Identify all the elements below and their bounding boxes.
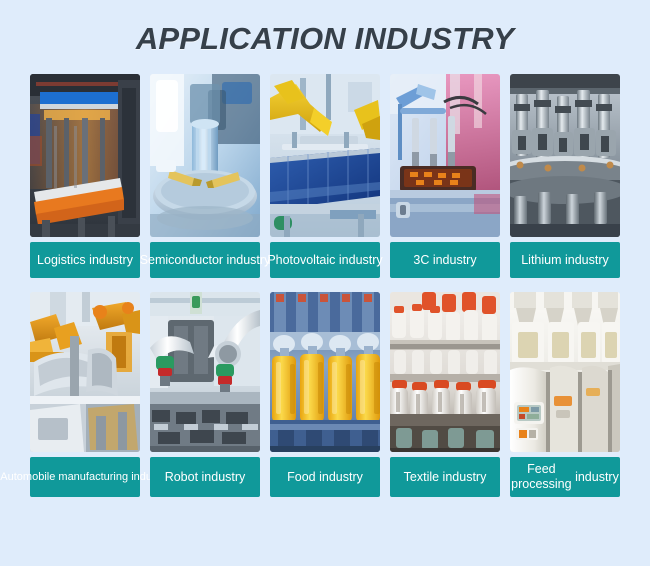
industry-card-logistics[interactable]: Logistics industry (30, 74, 140, 278)
semiconductor-wafer-photo (150, 74, 260, 237)
3c-assembly-photo (390, 74, 500, 237)
industry-row-2: Automobile manufacturing industry (30, 292, 620, 497)
label-line-1: Textile industry (404, 470, 487, 485)
industry-card-label: Lithium industry (510, 242, 620, 278)
industry-card-label: 3C industry (390, 242, 500, 278)
label-line-2: industry (89, 253, 133, 268)
label-line-1: Photovoltaic (267, 253, 335, 268)
industry-card-semiconductor[interactable]: Semiconductor industry (150, 74, 260, 278)
industry-card-label: Photovoltaic industry (270, 242, 380, 278)
industry-card-label: Logistics industry (30, 242, 140, 278)
label-line-2: manufacturing (58, 471, 128, 484)
application-industry-page: APPLICATION INDUSTRY (0, 0, 650, 566)
textile-spinning-photo (390, 292, 500, 452)
label-line-2: industry (227, 253, 271, 268)
logistics-conveyor-photo (30, 74, 140, 237)
page-title: APPLICATION INDUSTRY (0, 0, 650, 56)
industry-card-label: Textile industry (390, 457, 500, 497)
industry-card-label: Food industry (270, 457, 380, 497)
industry-card-label: Feed processing industry (510, 457, 620, 497)
industry-card-automobile[interactable]: Automobile manufacturing industry (30, 292, 140, 497)
lithium-battery-machine-photo (510, 74, 620, 237)
industry-row-1: Logistics industry (30, 74, 620, 278)
label-line-1: Automobile (0, 471, 55, 484)
label-line-2: industry (575, 470, 619, 485)
robot-cobot-photo (150, 292, 260, 452)
industry-card-label: Robot industry (150, 457, 260, 497)
industry-grid: Logistics industry (0, 56, 650, 497)
label-line-2: industry (339, 253, 383, 268)
label-line-1: Food industry (287, 470, 363, 485)
label-line-1: Feed processing (511, 462, 571, 492)
label-line-1: Lithium industry (521, 253, 609, 268)
industry-card-lithium[interactable]: Lithium industry (510, 74, 620, 278)
photovoltaic-robot-photo (270, 74, 380, 237)
feed-processing-photo (510, 292, 620, 452)
label-line-1: Semiconductor (140, 253, 223, 268)
industry-card-textile[interactable]: Textile industry (390, 292, 500, 497)
label-line-1: Logistics (37, 253, 86, 268)
industry-card-label: Automobile manufacturing industry (30, 457, 140, 497)
industry-card-robot[interactable]: Robot industry (150, 292, 260, 497)
food-bottling-photo (270, 292, 380, 452)
label-line-1: 3C industry (413, 253, 476, 268)
industry-card-photovoltaic[interactable]: Photovoltaic industry (270, 74, 380, 278)
industry-card-food[interactable]: Food industry (270, 292, 380, 497)
label-line-1: Robot industry (165, 470, 246, 485)
industry-card-3c[interactable]: 3C industry (390, 74, 500, 278)
industry-card-feed-processing[interactable]: Feed processing industry (510, 292, 620, 497)
automobile-assembly-photo (30, 292, 140, 452)
industry-card-label: Semiconductor industry (150, 242, 260, 278)
